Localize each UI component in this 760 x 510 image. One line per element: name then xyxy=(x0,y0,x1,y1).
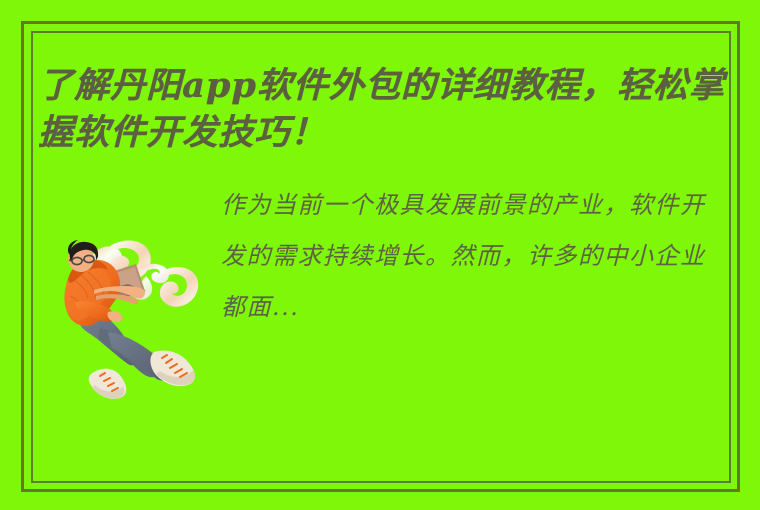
person-with-laptop-and-ribbon-illustration xyxy=(50,228,210,400)
article-card: 了解丹阳app软件外包的详细教程，轻松掌握软件开发技巧！ 作为当前一个极具发展前… xyxy=(0,0,760,510)
page-title: 了解丹阳app软件外包的详细教程，轻松掌握软件开发技巧！ xyxy=(38,62,738,156)
article-excerpt: 作为当前一个极具发展前景的产业，软件开发的需求持续增长。然而，许多的中小企业都面… xyxy=(221,180,721,333)
sneaker-graphic xyxy=(150,350,195,386)
figure-graphic xyxy=(64,240,195,399)
sneaker-back-graphic xyxy=(89,369,126,399)
